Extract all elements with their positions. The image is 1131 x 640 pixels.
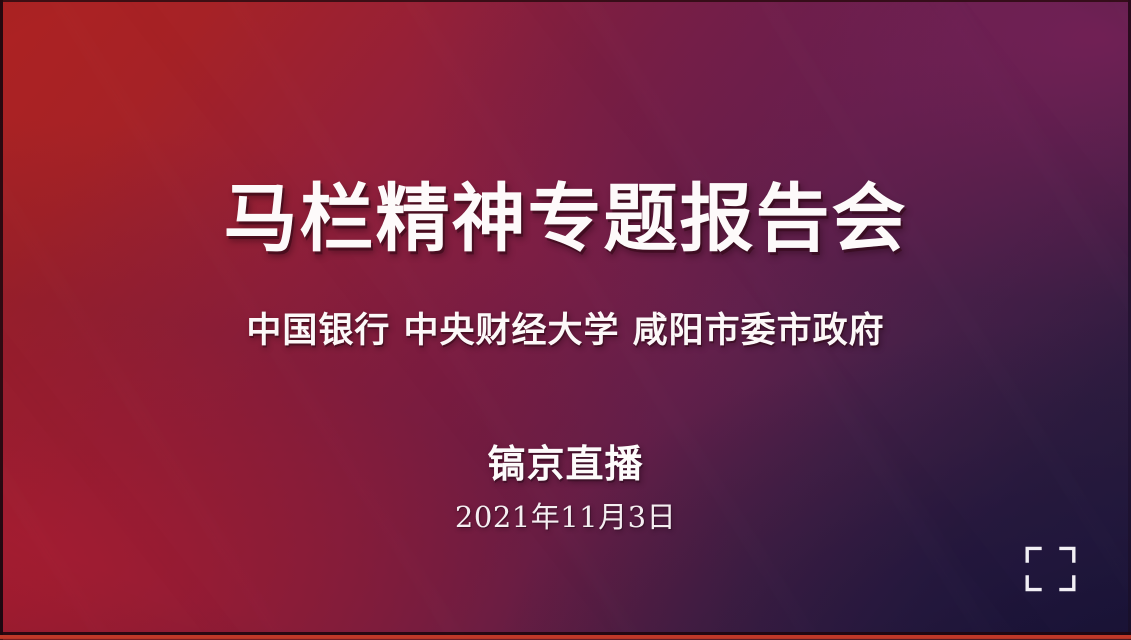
edge-border-left [0, 0, 3, 640]
frame-corners-icon [1022, 545, 1079, 593]
broadcast-date: 2021年11月3日 [0, 503, 1131, 532]
organizers-subtitle: 中国银行 中央财经大学 咸阳市委市政府 [0, 314, 1131, 349]
frame-corner-top-left [1027, 548, 1040, 561]
livestream-title-card: 马栏精神专题报告会 中国银行 中央财经大学 咸阳市委市政府 镐京直播 2021年… [0, 0, 1131, 640]
frame-corner-bottom-right [1061, 577, 1074, 590]
frame-corner-top-right [1061, 548, 1074, 561]
edge-border-top [0, 0, 1131, 2]
frame-corner-bottom-left [1027, 577, 1040, 590]
page-title: 马栏精神专题报告会 [0, 182, 1131, 256]
bottom-accent-bar [0, 635, 1131, 640]
title-card-content: 马栏精神专题报告会 中国银行 中央财经大学 咸阳市委市政府 镐京直播 2021年… [0, 0, 1131, 640]
channel-name: 镐京直播 [0, 445, 1131, 483]
